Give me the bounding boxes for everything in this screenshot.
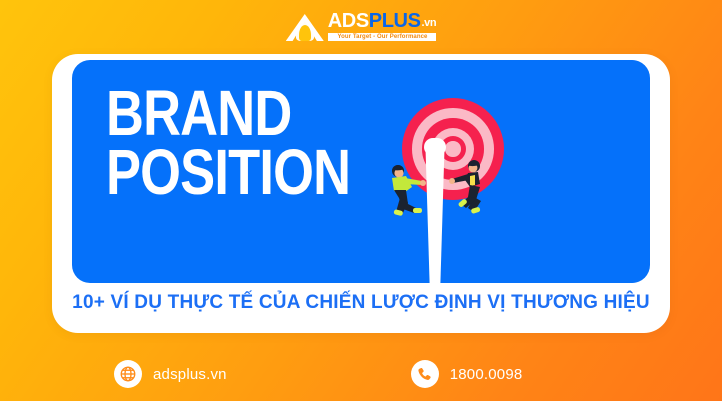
climbing-person-dark-suit-icon bbox=[440, 156, 498, 220]
footer-bar: adsplus.vn 1800.0098 bbox=[52, 352, 670, 396]
logo-wordmark: ADS PLUS .vn bbox=[328, 11, 436, 31]
swoosh-core-shape bbox=[299, 25, 311, 41]
adsplus-logo[interactable]: ADS PLUS .vn Your Target - Our Performan… bbox=[286, 11, 436, 41]
hero-title: BRAND POSITION bbox=[106, 84, 350, 202]
brand-position-banner: ADS PLUS .vn Your Target - Our Performan… bbox=[0, 0, 722, 401]
phone-icon bbox=[411, 360, 439, 388]
mountain-swoosh-icon bbox=[286, 14, 324, 41]
pillar-cap-shape bbox=[424, 138, 446, 156]
footer-website[interactable]: adsplus.vn bbox=[114, 360, 227, 388]
logo-plus-text: PLUS bbox=[369, 11, 421, 31]
logo-tagline: Your Target - Our Performance bbox=[328, 33, 436, 41]
logo-text: ADS PLUS .vn Your Target - Our Performan… bbox=[328, 11, 436, 41]
page-headline: 10+ VÍ DỤ THỰC TẾ CỦA CHIẾN LƯỢC ĐỊNH VỊ… bbox=[52, 292, 670, 314]
logo-ads-text: ADS bbox=[328, 11, 369, 31]
globe-icon bbox=[114, 360, 142, 388]
climbing-person-green-shirt-icon bbox=[372, 160, 430, 224]
hero-title-line1: BRAND bbox=[106, 84, 350, 143]
logo-bar: ADS PLUS .vn Your Target - Our Performan… bbox=[0, 0, 722, 52]
footer-phone[interactable]: 1800.0098 bbox=[411, 360, 523, 388]
hero-title-line2: POSITION bbox=[106, 143, 350, 202]
logo-tld-text: .vn bbox=[422, 18, 437, 29]
hero-panel: BRAND POSITION bbox=[72, 60, 650, 283]
target-ring-5 bbox=[445, 141, 460, 156]
footer-phone-label: 1800.0098 bbox=[450, 366, 523, 383]
footer-website-label: adsplus.vn bbox=[153, 366, 227, 383]
